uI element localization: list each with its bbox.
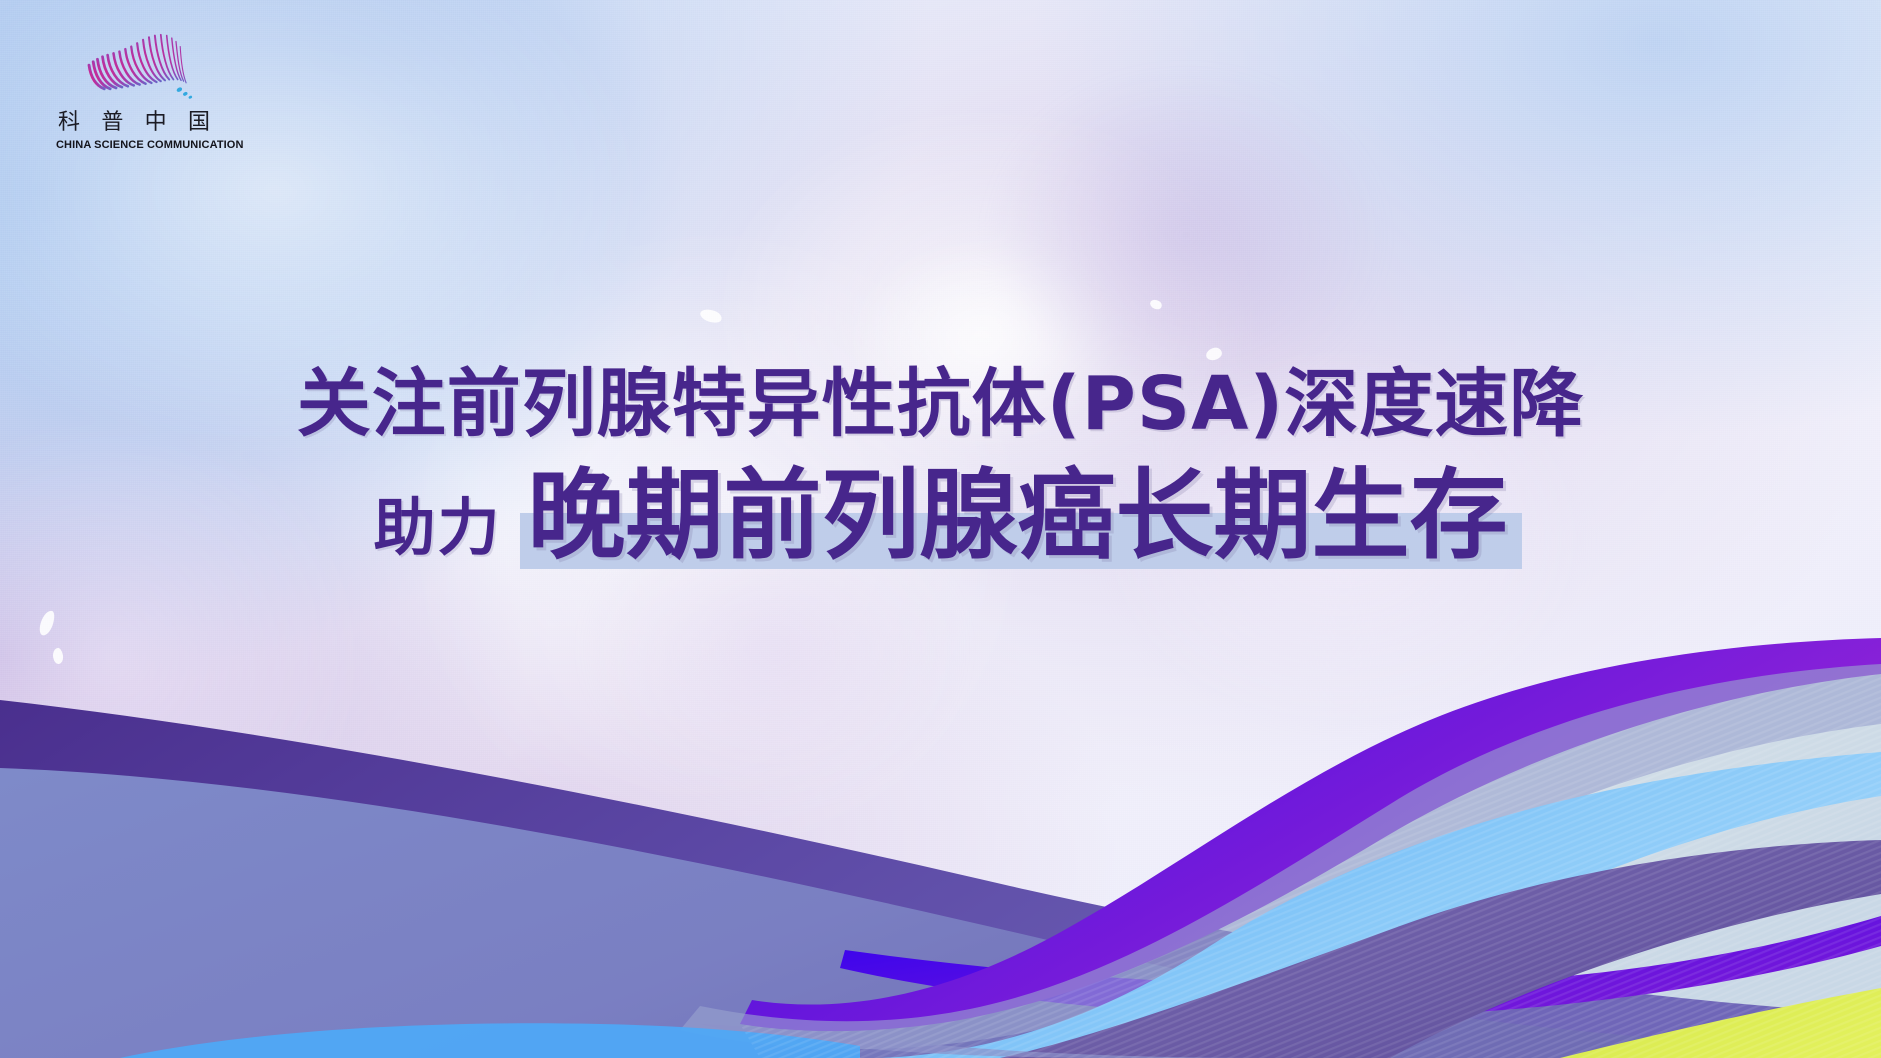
- logo: 科 普 中 国 CHINA SCIENCE COMMUNICATION: [56, 28, 256, 151]
- science-communication-mark-icon: [78, 28, 198, 104]
- logo-chinese-name: 科 普 中 国: [58, 112, 210, 134]
- logo-cn-char-0: 科: [58, 112, 80, 134]
- poster-canvas: 科 普 中 国 CHINA SCIENCE COMMUNICATION 关注前列…: [0, 0, 1881, 1058]
- title-block: 关注前列腺特异性抗体(PSA)深度速降 助力 晚期前列腺癌长期生存: [0, 366, 1881, 565]
- title-line-secondary: 助力 晚期前列腺癌长期生存: [0, 467, 1881, 565]
- logo-cn-char-1: 普: [101, 112, 123, 134]
- logo-cn-char-2: 中: [145, 112, 167, 134]
- title-emphasis-text: 晚期前列腺癌长期生存: [528, 459, 1508, 573]
- logo-cn-char-3: 国: [188, 112, 210, 134]
- bottom-wave-ribbons: [0, 628, 1881, 1058]
- title-emphasis-wrapper: 晚期前列腺癌长期生存: [528, 467, 1508, 565]
- logo-english-name: CHINA SCIENCE COMMUNICATION: [56, 139, 210, 151]
- title-secondary-prefix: 助力: [373, 497, 501, 565]
- title-line-primary: 关注前列腺特异性抗体(PSA)深度速降: [0, 366, 1881, 443]
